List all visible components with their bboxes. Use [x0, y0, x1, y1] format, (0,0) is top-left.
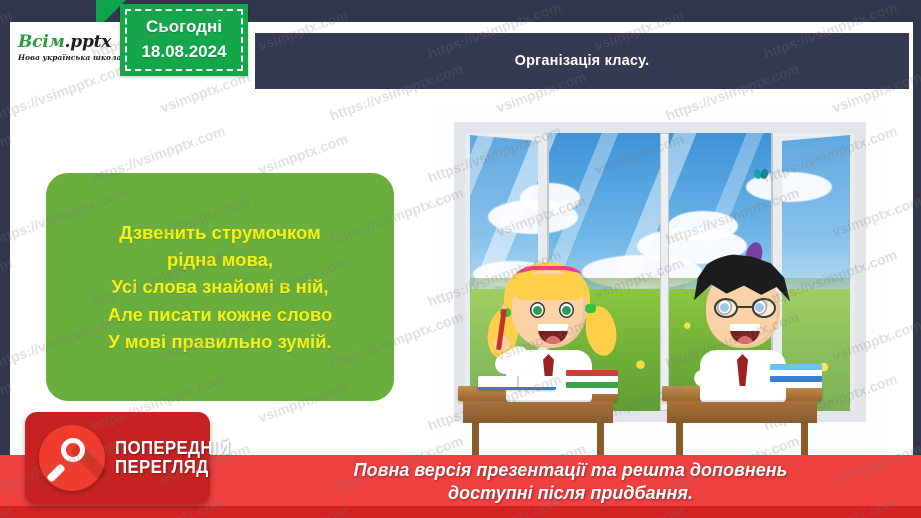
girl-fringe	[514, 274, 584, 300]
page-title: Організація класу.	[515, 53, 650, 69]
brand-logo-text: Всім.pptx	[18, 32, 122, 52]
brand-name-suffix: .pptx	[65, 32, 112, 52]
purchase-notice-line-1: Повна версія презентації та решта доповн…	[230, 459, 911, 482]
girl-eye-left	[530, 302, 545, 318]
classroom-illustration	[432, 104, 887, 456]
poem-line-2: рідна мова,	[167, 246, 273, 273]
date-badge: Сьогодні 18.08.2024	[120, 4, 248, 76]
cloud	[668, 211, 738, 241]
banner-bottom-strip	[0, 506, 921, 518]
window-mullion	[660, 133, 669, 411]
preview-badge-line-2: ПЕРЕГЛЯД	[115, 458, 230, 477]
purchase-notice-line-2: доступні після придбання.	[230, 482, 911, 505]
slide-header-bar: Організація класу.	[255, 33, 909, 89]
preview-badge-text: ПОПЕРЕДНІЙ ПЕРЕГЛЯД	[115, 439, 230, 477]
brand-subtitle: Нова українська школа	[18, 53, 122, 62]
poem-line-5: У мові правильно зумій.	[108, 328, 331, 355]
date-badge-label: Сьогодні	[146, 15, 222, 40]
book-stack-left	[566, 370, 618, 394]
preview-badge[interactable]: ПОПЕРЕДНІЙ ПЕРЕГЛЯД	[25, 412, 210, 504]
presentation-slide: Дзвенить струмочком рідна мова, Усі слов…	[0, 0, 921, 518]
poem-panel: Дзвенить струмочком рідна мова, Усі слов…	[46, 173, 394, 401]
purchase-notice-text: Повна версія презентації та решта доповн…	[230, 459, 911, 505]
poem-line-3: Усі слова знайомі в ній,	[112, 273, 329, 300]
open-book	[478, 376, 556, 390]
preview-badge-line-1: ПОПЕРЕДНІЙ	[115, 439, 230, 458]
poem-line-1: Дзвенить струмочком	[119, 219, 321, 246]
butterfly-icon	[754, 169, 768, 181]
poem-line-4: Але писати кожне слово	[108, 301, 333, 328]
magnifier-icon	[39, 425, 105, 491]
book-stack-right	[770, 364, 822, 388]
glasses-icon	[714, 298, 776, 318]
brand-logo-panel[interactable]: Всім.pptx Нова українська школа	[10, 22, 122, 80]
brand-name-prefix: Всім	[18, 32, 65, 52]
date-badge-value: 18.08.2024	[141, 40, 226, 65]
girl-hair-tie-right	[585, 304, 596, 313]
girl-eye-right	[559, 302, 574, 318]
